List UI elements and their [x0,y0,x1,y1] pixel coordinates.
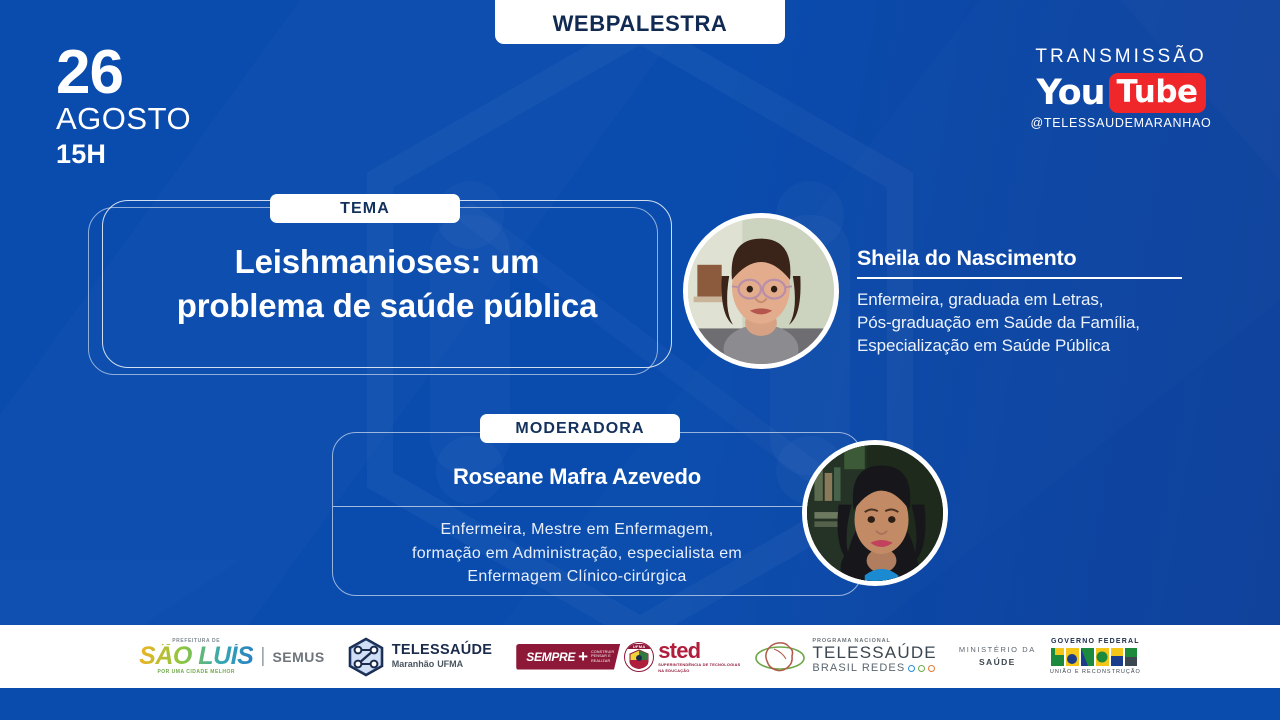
brasil-blocks-icon [1051,646,1139,668]
sao-luis-slogan: POR UMA CIDADE MELHOR [157,670,235,675]
footer-logo-band: PREFEITURA DE SÃO LUÍS POR UMA CIDADE ME… [0,625,1280,688]
tema-title: Leishmanioses: um problema de saúde públ… [155,240,619,328]
moderator-name: Roseane Mafra Azevedo [332,464,822,490]
logo-sao-luis: PREFEITURA DE SÃO LUÍS POR UMA CIDADE ME… [139,639,325,675]
sempre-plus: + [578,650,588,664]
logo-telessaude-maranhao: TELESSAÚDE Maranhão UFMA [347,637,493,677]
date-day: 26 [56,44,191,101]
tbr-dot-green [918,665,925,672]
hexagon-network-icon [347,637,385,677]
telessaude-ma-line1: TELESSAÚDE [392,643,493,658]
moderator-photo [802,440,948,586]
speaker-photo [683,213,839,369]
transmission-block: TRANSMISSÃO You Tube @TELESSAUDEMARANHAO [1012,46,1230,130]
logo-telessaude-brasil-redes: PROGRAMA NACIONAL TELESSAÚDE BRASIL REDE… [754,637,936,677]
semus-label: SEMUS [272,649,324,665]
ufma-shield-icon [628,649,650,669]
sempre-word: SEMPRE [526,650,575,664]
sted-wordmark: sted [658,640,740,662]
telessaude-ma-line3: UFMA [437,659,463,669]
speaker-portrait-illustration [688,218,834,364]
speaker-name: Sheila do Nascimento [857,246,1197,277]
moderator-portrait-illustration [807,445,943,581]
event-date-block: 26 AGOSTO 15H [56,44,191,172]
youtube-logo[interactable]: You Tube [1012,73,1230,113]
date-hour: 15H [56,137,191,172]
tbr-dot-blue [908,665,915,672]
ministerio-line1: MINISTÉRIO DA [959,644,1036,655]
tema-label: TEMA [270,194,460,223]
bottom-blue-strip [0,688,1280,720]
sao-luis-wordmark: SÃO LUÍS [139,644,253,669]
telessaude-ma-line2: Maranhão [392,659,435,669]
logo-governo-federal: GOVERNO FEDERAL UNIÃO E RECONSTRUÇÃO [1050,638,1141,676]
tbr-line2: TELESSAÚDE [812,644,936,662]
sted-subtitle: SUPERINTENDÊNCIA DE TECNOLOGIAS NA EDUCA… [658,662,740,672]
sempre-mais-banner: SEMPRE + CONSTRUIR PENSAR E REALIZAR [516,644,620,670]
moderator-label: MODERADORA [480,414,680,443]
date-month: AGOSTO [56,101,191,137]
logo-sempre-sted: SEMPRE + CONSTRUIR PENSAR E REALIZAR UFM… [516,640,740,672]
moderator-divider [333,506,820,507]
logo-ministerio-saude: MINISTÉRIO DA SAÚDE [959,644,1036,668]
sempre-subtitle: CONSTRUIR PENSAR E REALIZAR [591,650,614,663]
youtube-play-box: Tube [1109,73,1206,113]
speaker-info: Sheila do Nascimento Enfermeira, graduad… [857,246,1197,357]
governo-line1: GOVERNO FEDERAL [1051,638,1140,646]
tbr-dot-orange [928,665,935,672]
speaker-divider [857,277,1182,279]
logo-government: MINISTÉRIO DA SAÚDE GOVERNO FEDERAL [959,638,1141,676]
ufma-crest-icon: UFMA [624,642,654,672]
ministerio-line2: SAÚDE [979,656,1016,669]
poster-stage: 26 AGOSTO 15H WEBPALESTRA TRANSMISSÃO Yo… [0,0,1280,720]
webpalestra-badge: WEBPALESTRA [495,0,785,44]
transmission-label: TRANSMISSÃO [1012,46,1230,68]
youtube-wordmark-tube: Tube [1117,74,1198,110]
moderator-bio: Enfermeira, Mestre em Enfermagem, formaç… [332,518,822,589]
tema-panel: Leishmanioses: um problema de saúde públ… [102,200,672,368]
tbr-line3: BRASIL REDES [812,663,905,675]
speaker-bio: Enfermeira, graduada em Letras, Pós-grad… [857,288,1197,357]
youtube-handle: @TELESSAUDEMARANHAO [1012,116,1230,130]
brazil-map-icon [754,637,806,677]
youtube-wordmark-you: You [1036,73,1104,113]
governo-line3: UNIÃO E RECONSTRUÇÃO [1050,669,1141,676]
logo-divider: | [260,645,265,668]
